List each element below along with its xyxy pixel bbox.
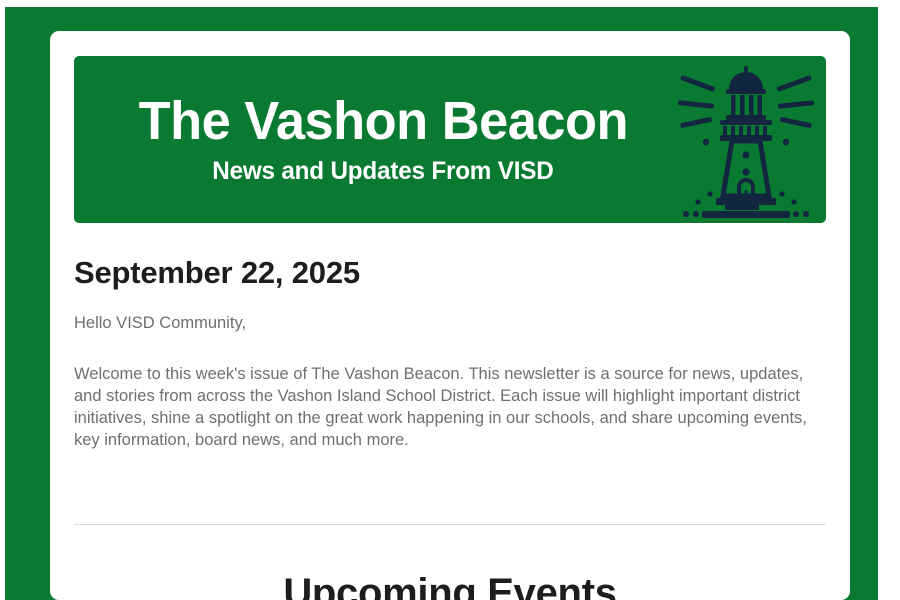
lighthouse-icon <box>676 60 816 220</box>
masthead-text-group: The Vashon Beacon News and Updates From … <box>74 56 674 223</box>
newsletter-title: The Vashon Beacon <box>138 93 628 150</box>
greeting-text: Hello VISD Community, <box>74 312 826 334</box>
issue-date-heading: September 22, 2025 <box>74 256 826 290</box>
upcoming-events-heading: Upcoming Events <box>74 571 826 600</box>
intro-paragraph: Welcome to this week's issue of The Vash… <box>74 363 814 451</box>
newsletter-card: The Vashon Beacon News and Updates From … <box>50 31 850 600</box>
newsletter-body: September 22, 2025 Hello VISD Community,… <box>74 256 826 451</box>
newsletter-page: The Vashon Beacon News and Updates From … <box>0 0 900 600</box>
section-divider <box>74 524 826 525</box>
masthead-banner: The Vashon Beacon News and Updates From … <box>74 56 826 223</box>
newsletter-subtitle: News and Updates From VISD <box>212 157 553 186</box>
